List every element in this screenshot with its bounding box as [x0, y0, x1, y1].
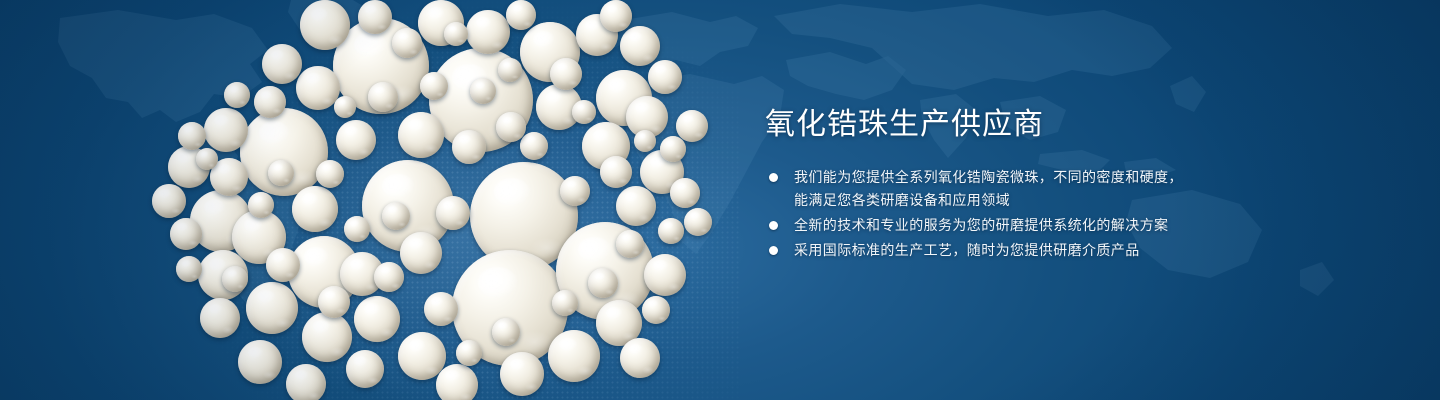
bullet-text-line-1: 采用国际标准的生产工艺，随时为您提供研磨介质产品	[794, 242, 1140, 258]
bullet-text-line-1: 我们能为您提供全系列氧化锆陶瓷微珠，不同的密度和硬度，	[794, 169, 1183, 185]
bullet-text-line-1: 全新的技术和专业的服务为您的研磨提供系统化的解决方案	[794, 217, 1168, 233]
hero-banner: 氧化锆珠生产供应商 我们能为您提供全系列氧化锆陶瓷微珠，不同的密度和硬度， 能满…	[0, 0, 1440, 400]
banner-copy: 氧化锆珠生产供应商 我们能为您提供全系列氧化锆陶瓷微珠，不同的密度和硬度， 能满…	[765, 106, 1365, 264]
bullet-dot-icon	[769, 246, 778, 255]
bullet-dot-icon	[769, 173, 778, 182]
bullet-text-line-2: 能满足您各类研磨设备和应用领域	[794, 189, 1365, 212]
bullet-dot-icon	[769, 221, 778, 230]
list-item: 我们能为您提供全系列氧化锆陶瓷微珠，不同的密度和硬度， 能满足您各类研磨设备和应…	[765, 166, 1365, 212]
feature-bullet-list: 我们能为您提供全系列氧化锆陶瓷微珠，不同的密度和硬度， 能满足您各类研磨设备和应…	[765, 166, 1365, 262]
page-title: 氧化锆珠生产供应商	[765, 106, 1365, 144]
list-item: 采用国际标准的生产工艺，随时为您提供研磨介质产品	[765, 239, 1365, 262]
list-item: 全新的技术和专业的服务为您的研磨提供系统化的解决方案	[765, 214, 1365, 237]
